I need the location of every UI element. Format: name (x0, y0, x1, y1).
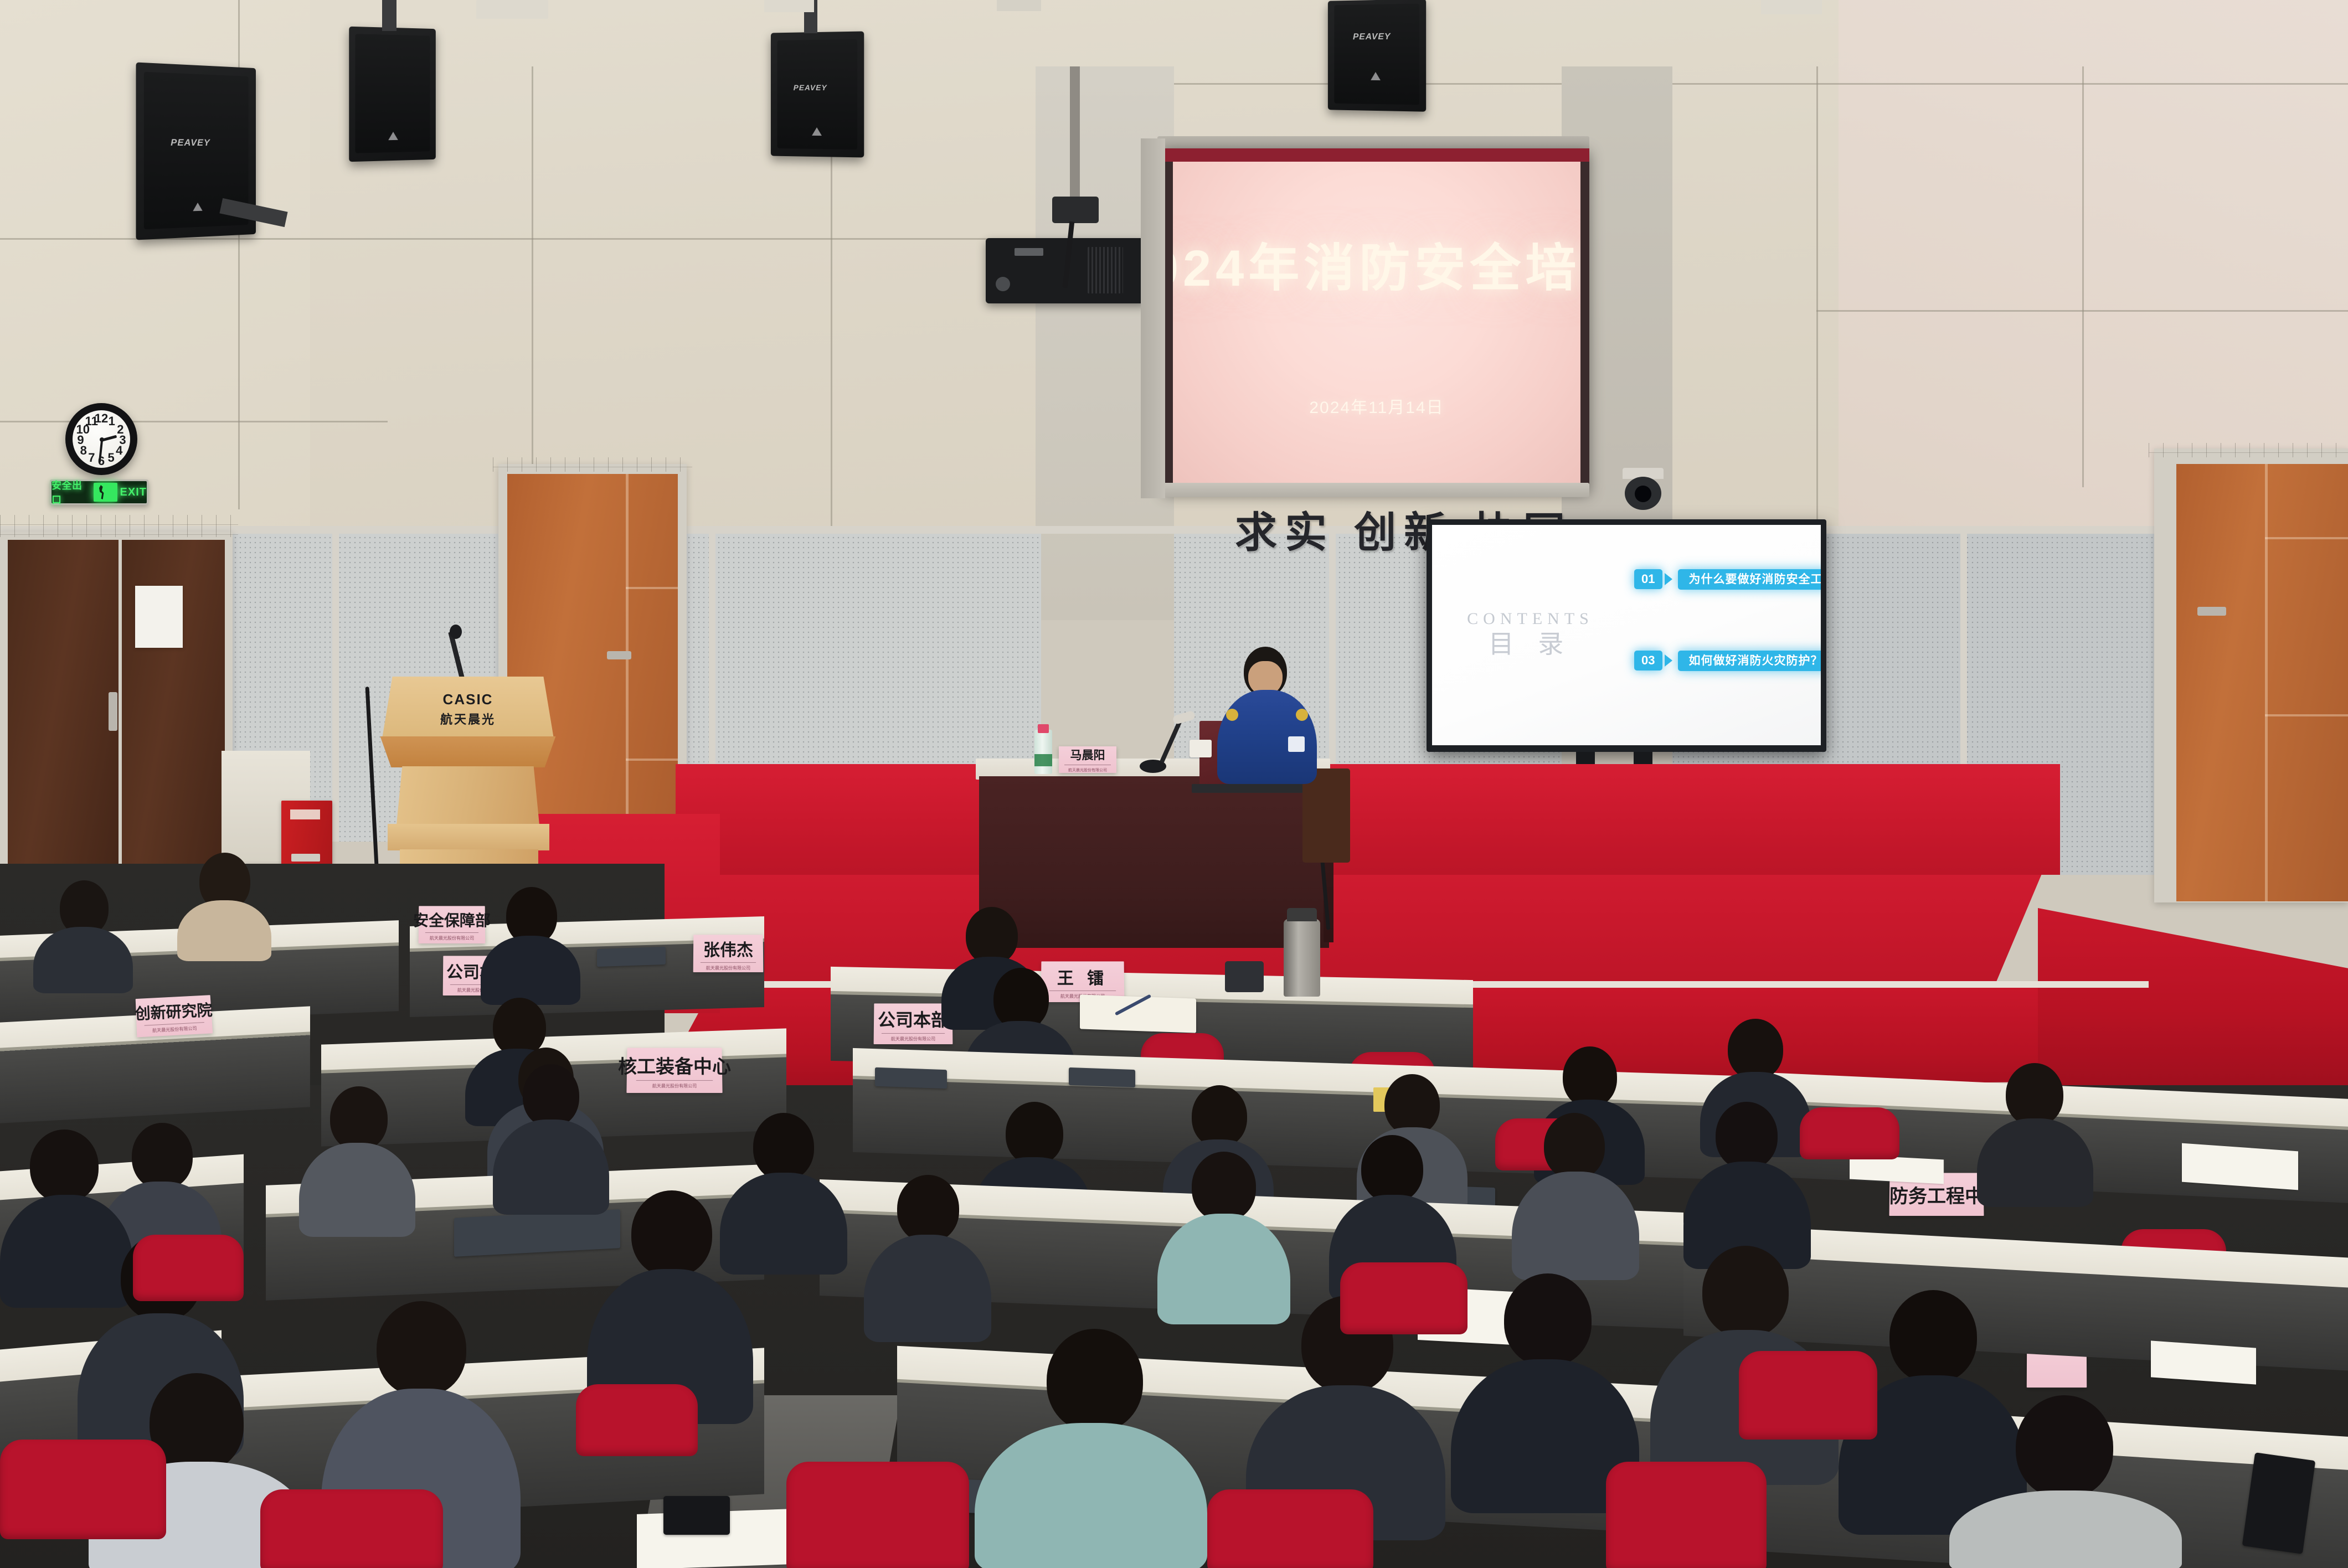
stage-platform-back (676, 764, 2060, 875)
podium-top: CASIC 航天晨光 (382, 677, 554, 739)
door-panel-line (2265, 537, 2348, 539)
lcd-display[interactable]: CONTENTS 目 录 01 为什么要做好消防安全工作？ 03 如何做好消防火… (1427, 519, 1826, 752)
bottle-label (1034, 754, 1052, 766)
wall-clock: 12 1 2 3 4 5 6 7 8 9 10 11 (65, 403, 137, 475)
auditorium-scene: PEAVEY PEAVEY PEAVEY 12 1 2 3 (0, 0, 2348, 1568)
audience-person-r2-8 (1977, 1063, 2093, 1207)
exit-sign: 安全出口 EXIT (50, 479, 148, 505)
placard-name: 公司本部 (878, 1006, 949, 1031)
clock-numeral: 5 (108, 451, 115, 465)
clock-numeral: 1 (109, 414, 115, 429)
paper-sheet[interactable] (2151, 1340, 2256, 1384)
placard-name: 张伟杰 (703, 936, 753, 961)
door-tile-trim (0, 515, 238, 537)
audience-person-r3-9 (1683, 1102, 1811, 1268)
projector-mount (1052, 197, 1099, 223)
exit-sign-en-label: EXIT (120, 486, 147, 499)
audience-person-r4-6 (975, 1329, 1207, 1568)
bottle-cap (1038, 724, 1049, 733)
presenter-name-placard: 马晨阳 航天晨光股份有限公司 (1059, 746, 1116, 773)
chair[interactable] (1207, 1489, 1373, 1568)
placard-nuclear-equipment-center: 核工装备中心 航天晨光股份有限公司 (626, 1048, 722, 1093)
podium-step (388, 824, 549, 850)
speaker-brand-label: PEAVEY (1353, 32, 1391, 42)
chair[interactable] (1340, 1262, 1468, 1334)
audience-person-r4-11 (1949, 1395, 2182, 1568)
placard-innovation-institute: 创新研究院 航天晨光股份有限公司 (136, 995, 213, 1037)
uniform-shoulder-badge (1296, 709, 1308, 721)
ceiling-light (1761, 0, 1822, 14)
placard-subtext: 航天晨光股份有限公司 (430, 935, 474, 941)
podium-brand-label: CASIC (382, 691, 554, 708)
notebook[interactable] (1069, 1067, 1135, 1087)
audience-person-r1-2 (33, 880, 133, 991)
door-tile-trim (493, 457, 692, 472)
speaker-brand-label: PEAVEY (171, 137, 210, 148)
door-panel-line (2265, 714, 2348, 716)
clock-hour-hand (102, 435, 117, 442)
placard-zhang-weijie: 张伟杰 航天晨光股份有限公司 (693, 935, 764, 972)
placard-safety-dept: 安全保障部 航天晨光股份有限公司 (419, 906, 486, 943)
smartphone[interactable] (2242, 1452, 2316, 1554)
door-panel-line (626, 474, 629, 849)
chair[interactable] (133, 1235, 244, 1301)
toc-item-number: 03 (1634, 651, 1662, 670)
door-right-leaf[interactable] (2176, 464, 2348, 901)
chair[interactable] (576, 1384, 698, 1456)
smartphone[interactable] (663, 1496, 730, 1535)
thermos-cap (1287, 908, 1317, 921)
podium-band (377, 736, 559, 767)
toc-item-label: 如何做好消防火灾防护？ (1678, 651, 1821, 671)
toc-heading-cn: 目 录 (1467, 632, 1594, 657)
ptz-camera (1616, 468, 1670, 519)
toc-item-number: 01 (1634, 569, 1662, 589)
placard-subtext: 航天晨光股份有限公司 (891, 1035, 935, 1041)
speaker-bracket (382, 0, 397, 31)
running-man-icon (94, 483, 117, 502)
slide-title: 2024年消防安全培训 (1173, 227, 1580, 301)
audience-person-r3-8 (1512, 1113, 1639, 1279)
notebook[interactable] (597, 947, 666, 967)
door-tile-trim (2149, 443, 2348, 457)
screen-bottom-bar (1163, 483, 1589, 497)
ceiling-speaker-3: PEAVEY (771, 32, 864, 158)
audience-person-r1-3 (481, 887, 580, 1003)
laptop-base[interactable] (1192, 784, 1317, 793)
uniform-chest-badge (1288, 736, 1305, 752)
mic-head (450, 625, 462, 639)
audience-person-r3-5 (864, 1175, 991, 1341)
placard-name: 创新研究院 (135, 998, 213, 1024)
speaker-brand-label: PEAVEY (794, 83, 827, 92)
clock-numeral: 4 (116, 443, 122, 458)
placard-name: 核工装备中心 (618, 1051, 732, 1078)
placard-subtext: 航天晨光股份有限公司 (152, 1025, 197, 1033)
chair[interactable] (1800, 1107, 1899, 1159)
chevron-right-icon (1665, 654, 1672, 667)
uniform-shoulder-badge (1226, 709, 1238, 721)
toc-item-label: 为什么要做好消防安全工作？ (1678, 569, 1821, 590)
door-handle[interactable] (2197, 607, 2226, 616)
notebook[interactable] (875, 1067, 947, 1089)
placard-name: 安全保障部 (413, 909, 491, 931)
chair[interactable] (260, 1489, 443, 1568)
wall-outlet[interactable] (1190, 740, 1212, 757)
podium-column (397, 766, 539, 825)
chair[interactable] (786, 1462, 969, 1568)
placard-company-hq-2: 公司本部 航天晨光股份有限公司 (874, 1003, 953, 1044)
projection-screen-surface: 2024年消防安全培训 2024年11月14日 (1173, 162, 1580, 483)
bag-item[interactable] (1225, 961, 1264, 992)
toc-heading-en: CONTENTS (1467, 611, 1594, 627)
ceiling-fixture (997, 0, 1041, 11)
audience-person-r3-2 (299, 1086, 415, 1236)
screen-top-bar (1163, 148, 1589, 162)
placard-subtext: 航天晨光股份有限公司 (652, 1083, 697, 1089)
exit-sign-cn-label: 安全出口 (52, 478, 91, 507)
placard-subtext: 航天晨光股份有限公司 (1068, 767, 1107, 773)
placard-name: 防务工程中 (1889, 1181, 1984, 1208)
placard-name: 马晨阳 (1070, 746, 1105, 763)
projector-pole (1070, 66, 1080, 205)
thermos-flask[interactable] (1284, 919, 1320, 997)
stage-riser-face-right (2038, 908, 2348, 1085)
clock-numeral: 7 (88, 451, 95, 465)
toc-item-1: 01 为什么要做好消防安全工作？ (1634, 569, 1821, 590)
lcd-screen-surface: CONTENTS 目 录 01 为什么要做好消防安全工作？ 03 如何做好消防火… (1432, 525, 1821, 745)
paper-sheet[interactable] (2182, 1143, 2298, 1190)
chair[interactable] (1739, 1351, 1877, 1440)
water-bottle[interactable] (1034, 730, 1052, 774)
clock-numeral: 11 (85, 414, 98, 429)
ceiling-speaker-4: PEAVEY (1328, 0, 1426, 112)
ceiling-speaker-2 (349, 27, 436, 162)
chevron-right-icon (1665, 573, 1672, 585)
door-left-leaf-a[interactable] (8, 540, 119, 871)
chair[interactable] (1606, 1462, 1767, 1568)
wall-seam (1412, 83, 2348, 85)
podium-logo: CASIC 航天晨光 (382, 691, 554, 728)
door-panel-line (626, 587, 678, 589)
podium-brand-cn-label: 航天晨光 (382, 710, 554, 728)
slide-date: 2024年11月14日 (1309, 394, 1444, 418)
ceiling-light (476, 0, 548, 19)
door-notice-sheet (135, 586, 183, 648)
door-panel-line (2265, 464, 2268, 901)
door-handle[interactable] (607, 651, 631, 659)
presenter-person (1217, 647, 1317, 785)
acoustic-trim (332, 532, 339, 842)
chair[interactable] (0, 1440, 166, 1539)
placard-subtext: 航天晨光股份有限公司 (706, 964, 750, 971)
screen-side-housing (1141, 138, 1165, 498)
wall-seam (1816, 310, 2348, 312)
wall-seam (2082, 66, 2084, 487)
door-handle[interactable] (109, 692, 117, 731)
door-panel-line (626, 759, 678, 761)
toc-item-2: 03 如何做好消防火灾防护？ (1634, 651, 1821, 671)
acoustic-trim (0, 526, 2348, 534)
toc-heading: CONTENTS 目 录 (1467, 611, 1594, 657)
wall-seam (0, 421, 388, 422)
audience-person-r1-1 (177, 853, 271, 958)
ceiling-fixture (764, 0, 814, 12)
